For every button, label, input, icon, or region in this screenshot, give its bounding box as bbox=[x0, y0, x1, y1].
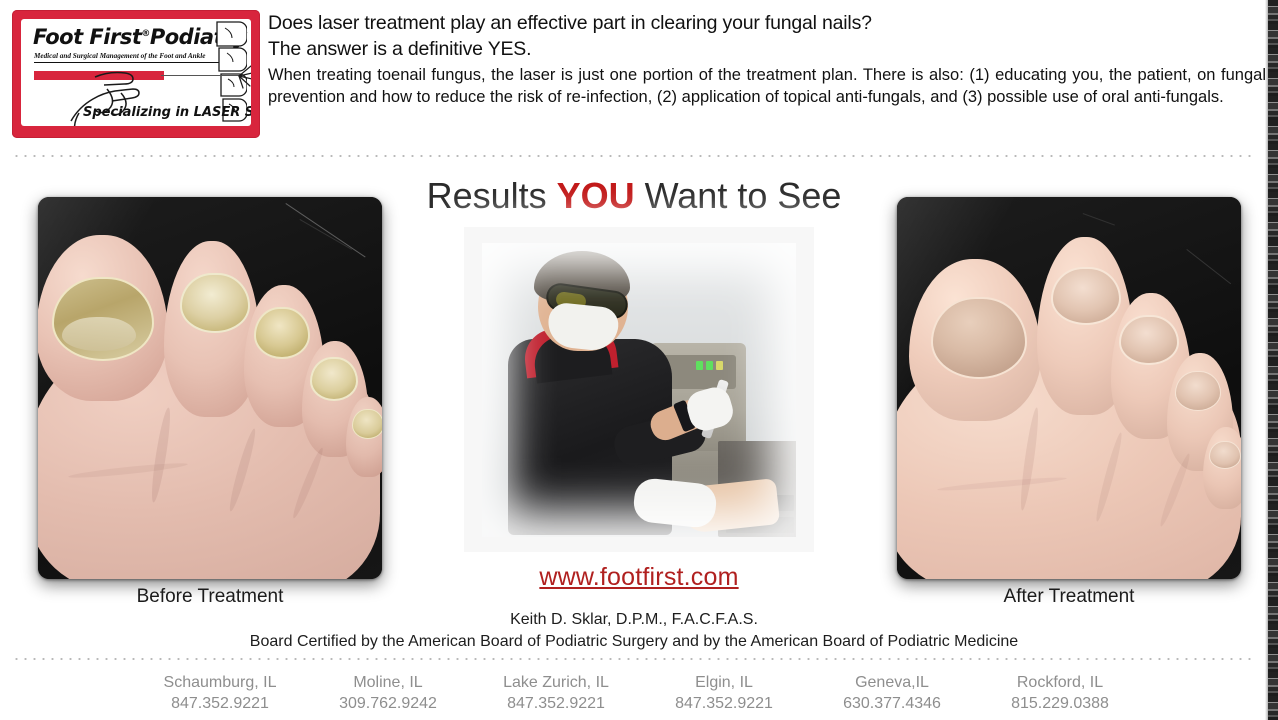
after-treatment-caption: After Treatment bbox=[897, 586, 1241, 608]
foot-first-podiatry-logo: Foot First®Podiatry Medical and Surgical… bbox=[12, 10, 260, 138]
location-phone[interactable]: 847.352.9221 bbox=[654, 693, 794, 714]
location-item: Rockford, IL 815.229.0388 bbox=[990, 672, 1130, 714]
location-city: Geneva,IL bbox=[822, 672, 962, 693]
location-phone[interactable]: 309.762.9242 bbox=[318, 693, 458, 714]
clinic-scene bbox=[482, 243, 796, 537]
location-item: Moline, IL 309.762.9242 bbox=[318, 672, 458, 714]
header-answer: The answer is a definitive YES. bbox=[268, 36, 1266, 62]
locations-footer: Schaumburg, IL 847.352.9221 Moline, IL 3… bbox=[150, 672, 1130, 714]
divider-top bbox=[12, 155, 1256, 157]
header-section: Foot First®Podiatry Medical and Surgical… bbox=[0, 0, 1268, 150]
after-treatment-photo bbox=[897, 197, 1241, 579]
logo-tagline: Medical and Surgical Management of the F… bbox=[34, 52, 209, 60]
before-treatment-caption: Before Treatment bbox=[38, 586, 382, 608]
board-certification: Board Certified by the American Board of… bbox=[0, 633, 1268, 651]
page-title-emphasis: YOU bbox=[557, 175, 635, 216]
location-phone[interactable]: 815.229.0388 bbox=[990, 693, 1130, 714]
location-item: Lake Zurich, IL 847.352.9221 bbox=[486, 672, 626, 714]
logo-wordmark-foot-first: Foot First bbox=[33, 25, 141, 49]
location-phone[interactable]: 847.352.9221 bbox=[486, 693, 626, 714]
location-city: Moline, IL bbox=[318, 672, 458, 693]
photo-vignette bbox=[482, 243, 796, 537]
slide-canvas: Foot First®Podiatry Medical and Surgical… bbox=[0, 0, 1278, 720]
header-text-block: Does laser treatment play an effective p… bbox=[268, 11, 1266, 108]
doctor-name: Keith D. Sklar, D.P.M., F.A.C.F.A.S. bbox=[0, 611, 1268, 629]
location-city: Elgin, IL bbox=[654, 672, 794, 693]
location-city: Lake Zurich, IL bbox=[486, 672, 626, 693]
header-question: Does laser treatment play an effective p… bbox=[268, 11, 1266, 36]
video-edge-noise-strip bbox=[1268, 0, 1278, 720]
logo-specializing-text: Specializing in LASER Surgery bbox=[83, 105, 251, 120]
page-title-part2: Want to See bbox=[635, 175, 842, 216]
laser-treatment-photo bbox=[464, 227, 814, 552]
logo-inner-panel: Foot First®Podiatry Medical and Surgical… bbox=[21, 19, 251, 126]
location-item: Geneva,IL 630.377.4346 bbox=[822, 672, 962, 714]
location-item: Elgin, IL 847.352.9221 bbox=[654, 672, 794, 714]
before-treatment-photo bbox=[38, 197, 382, 579]
location-phone[interactable]: 847.352.9221 bbox=[150, 693, 290, 714]
location-item: Schaumburg, IL 847.352.9221 bbox=[150, 672, 290, 714]
website-link[interactable]: www.footfirst.com bbox=[464, 563, 814, 592]
page-title-part1: Results bbox=[427, 175, 557, 216]
location-city: Rockford, IL bbox=[990, 672, 1130, 693]
foot-illustration-after bbox=[897, 231, 1241, 579]
location-city: Schaumburg, IL bbox=[150, 672, 290, 693]
divider-bottom bbox=[12, 658, 1256, 660]
logo-specializing-label: Specializing in LASER Surgery bbox=[83, 105, 251, 120]
registered-trademark-icon: ® bbox=[141, 29, 150, 39]
foot-illustration-before bbox=[38, 231, 382, 579]
location-phone[interactable]: 630.377.4346 bbox=[822, 693, 962, 714]
logo-laser-spark-icon bbox=[226, 63, 251, 89]
header-body-paragraph: When treating toenail fungus, the laser … bbox=[268, 65, 1266, 108]
logo-wordmark: Foot First®Podiatry bbox=[33, 25, 221, 51]
